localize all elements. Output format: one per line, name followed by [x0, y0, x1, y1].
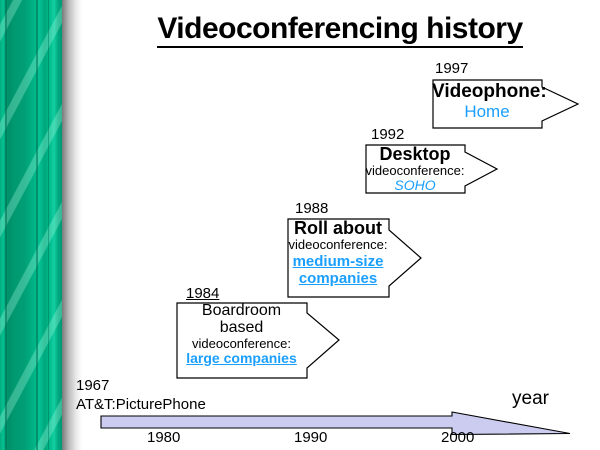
callout-1988: Roll about videoconference: medium-size … [287, 218, 423, 298]
callout-1984-sub: videoconference: [176, 337, 307, 351]
origin-year-label: 1967 [76, 377, 109, 394]
callout-1992-accent: SOHO [365, 178, 465, 193]
axis-label-year: year [512, 388, 549, 410]
tick-label-2000: 2000 [441, 429, 474, 446]
decorative-green-band [0, 0, 62, 450]
callout-1997: Videophone: Home [432, 79, 580, 129]
callout-1992: Desktop videoconference: SOHO [365, 144, 499, 194]
callout-1988-content: Roll about videoconference: medium-size … [287, 218, 389, 287]
year-label-1992: 1992 [371, 126, 404, 143]
callout-1984-content: Boardroom based videoconference: large c… [176, 302, 307, 366]
callout-1997-content: Videophone: Home [432, 79, 542, 121]
tick-label-1990: 1990 [294, 429, 327, 446]
callout-1984-head-2: based [176, 320, 307, 337]
callout-1988-accent-2: companies [287, 271, 389, 287]
page-title: Videoconferencing history [130, 12, 550, 46]
year-label-1988: 1988 [295, 200, 328, 217]
year-label-1997: 1997 [435, 60, 468, 77]
callout-1992-content: Desktop videoconference: SOHO [365, 144, 465, 193]
callout-1988-sub: videoconference: [287, 238, 389, 252]
callout-1992-sub: videoconference: [365, 164, 465, 178]
page-title-text: Videoconferencing history [157, 12, 522, 48]
callout-1984-accent: large companies [176, 351, 307, 366]
year-label-1984: 1984 [186, 285, 219, 302]
callout-1997-head: Videophone: [432, 82, 542, 102]
slide-canvas: Videoconferencing history 1997 Videophon… [0, 0, 600, 450]
band-vertical-lines [0, 0, 62, 450]
callout-1988-head: Roll about [287, 219, 389, 238]
callout-1988-accent-1: medium-size [287, 254, 389, 270]
callout-1984-head-1: Boardroom [176, 303, 307, 320]
tick-label-1980: 1980 [147, 429, 180, 446]
callout-1992-head: Desktop [365, 145, 465, 164]
callout-1984: Boardroom based videoconference: large c… [176, 302, 341, 379]
callout-1997-accent: Home [432, 103, 542, 121]
